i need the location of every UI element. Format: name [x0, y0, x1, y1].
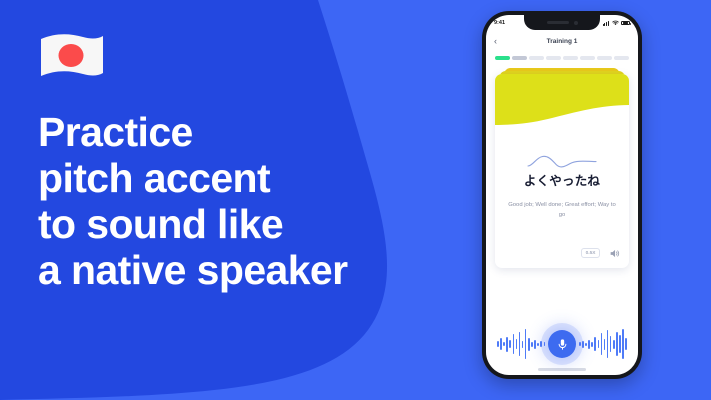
waveform-bar	[506, 337, 508, 352]
pitch-accent-contour-icon	[526, 154, 598, 169]
battery-icon	[621, 21, 630, 26]
waveform-bar	[619, 335, 621, 353]
card-yellow-illustration	[495, 74, 629, 126]
headline-line-1: Practice	[38, 110, 458, 156]
waveform-bar	[516, 339, 518, 349]
progress-segment-7	[597, 56, 612, 60]
waveform-left	[497, 327, 545, 361]
waveform-bar	[616, 332, 618, 356]
waveform-bar	[534, 340, 536, 349]
progress-segment-4	[546, 56, 561, 60]
flashcard[interactable]: よくやったね Good job; Well done; Great effort…	[495, 74, 629, 268]
playback-speed-button[interactable]: 0.5X	[581, 248, 600, 258]
waveform-bar	[610, 336, 612, 352]
waveform-bar	[525, 329, 527, 359]
headline-line-4: a native speaker	[38, 248, 458, 294]
progress-segment-3	[529, 56, 544, 60]
waveform-bar	[531, 342, 533, 347]
waveform-bar	[500, 338, 502, 350]
home-indicator	[538, 368, 586, 371]
japan-flag-icon	[38, 30, 106, 82]
cellular-signal-icon	[603, 21, 609, 26]
speaker-volume-icon[interactable]	[609, 248, 620, 259]
waveform-bar	[625, 338, 627, 350]
waveform-right	[579, 327, 627, 361]
waveform-bar	[588, 340, 590, 349]
waveform-bar	[522, 341, 524, 348]
phone-notch	[524, 15, 600, 30]
waveform-bar	[544, 342, 546, 346]
promo-panel: Practice pitch accent to sound like a na…	[38, 30, 458, 294]
page-title: Practice pitch accent to sound like a na…	[38, 110, 458, 294]
waveform-bar	[607, 330, 609, 358]
progress-segment-8	[614, 56, 629, 60]
waveform-bar	[604, 339, 606, 350]
progress-segment-6	[580, 56, 595, 60]
flashcard-stack: よくやったね Good job; Well done; Great effort…	[495, 68, 629, 268]
japanese-phrase: よくやったね	[524, 170, 600, 189]
flashcard-controls: 0.5X	[581, 248, 620, 259]
status-bar-time: 9:41	[494, 20, 505, 26]
progress-segment-2	[512, 56, 527, 60]
waveform-bar	[519, 332, 521, 356]
waveform-bar	[591, 342, 593, 347]
waveform-bar	[509, 340, 511, 348]
wifi-icon	[612, 20, 619, 26]
lesson-progress-bar	[486, 51, 638, 60]
waveform-bar	[601, 333, 603, 355]
microphone-record-button[interactable]	[548, 330, 576, 358]
waveform-bar	[594, 337, 596, 351]
waveform-bar	[598, 340, 600, 348]
waveform-bar	[513, 334, 515, 354]
microphone-icon	[556, 338, 569, 351]
waveform-bar	[537, 343, 539, 346]
waveform-bar	[622, 329, 624, 359]
waveform-bar	[582, 341, 584, 348]
phone-mockup: 9:41 ‹ Training 1	[482, 11, 642, 379]
chevron-left-icon[interactable]: ‹	[494, 37, 497, 46]
headline-line-3: to sound like	[38, 202, 458, 248]
progress-segment-1	[495, 56, 510, 60]
waveform-bar	[540, 341, 542, 347]
waveform-bar	[497, 341, 499, 347]
waveform-bar	[585, 343, 587, 346]
progress-segment-5	[563, 56, 578, 60]
waveform-bar	[503, 342, 505, 346]
headline-line-2: pitch accent	[38, 156, 458, 202]
waveform-bar	[579, 342, 581, 346]
english-translation: Good job; Well done; Great effort; Way t…	[508, 200, 616, 221]
nav-title: Training 1	[486, 38, 638, 45]
app-navbar: ‹ Training 1	[486, 31, 638, 51]
waveform-bar	[613, 340, 615, 349]
front-camera-icon	[574, 21, 578, 25]
voice-recorder-bar	[486, 313, 638, 375]
waveform-bar	[528, 338, 530, 351]
earpiece-speaker-icon	[547, 21, 569, 24]
status-bar-icons	[603, 20, 630, 26]
phone-screen: 9:41 ‹ Training 1	[486, 15, 638, 375]
